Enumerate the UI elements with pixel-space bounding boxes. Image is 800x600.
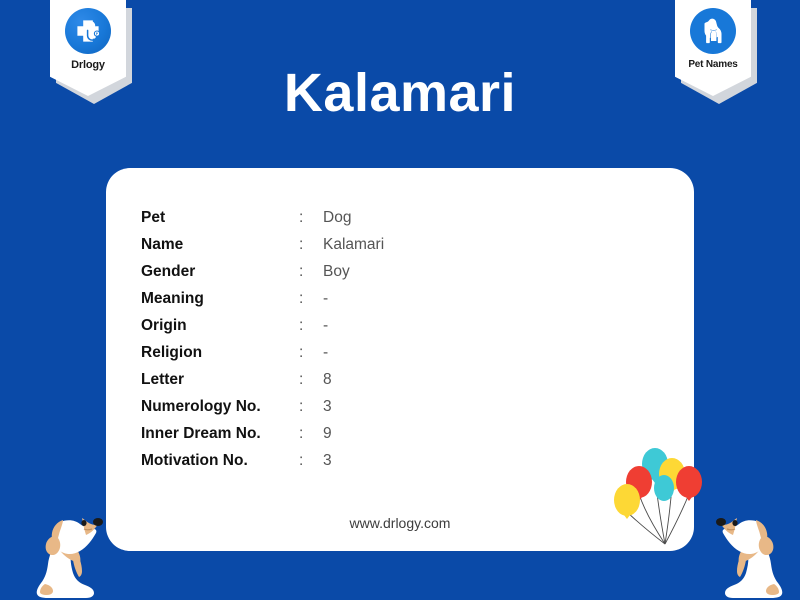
table-row: Meaning : - [141,290,384,317]
row-separator: : [299,290,323,308]
table-row: Inner Dream No. : 9 [141,425,384,452]
dog-cat-silhouette-icon [690,8,736,54]
badge-body: P Drlogy [50,0,126,96]
table-row: Religion : - [141,344,384,371]
row-separator: : [299,344,323,362]
row-value: 3 [323,452,332,470]
brand-badge-drlogy: P Drlogy [50,0,126,96]
row-value: Kalamari [323,236,384,254]
row-label: Meaning [141,290,299,308]
badge-label-drlogy: Drlogy [71,59,105,71]
drlogy-logo-icon: P [65,8,111,54]
row-separator: : [299,452,323,470]
brand-badge-pet-names: Pet Names [675,0,751,96]
sitting-dog-icon-left [22,492,127,600]
badge-label-pet-names: Pet Names [688,59,737,70]
row-label: Origin [141,317,299,335]
row-separator: : [299,398,323,416]
row-value: - [323,290,328,308]
details-table: Pet : Dog Name : Kalamari Gender : Boy M… [141,209,384,479]
row-value: Dog [323,209,351,227]
table-row: Gender : Boy [141,263,384,290]
row-separator: : [299,209,323,227]
row-value: - [323,344,328,362]
row-separator: : [299,425,323,443]
table-row: Numerology No. : 3 [141,398,384,425]
row-separator: : [299,317,323,335]
row-value: 3 [323,398,332,416]
row-value: - [323,317,328,335]
row-label: Motivation No. [141,452,299,470]
row-label: Numerology No. [141,398,299,416]
table-row: Pet : Dog [141,209,384,236]
sitting-dog-icon-right [692,492,797,600]
row-label: Letter [141,371,299,389]
row-value: Boy [323,263,350,281]
row-value: 9 [323,425,332,443]
table-row: Letter : 8 [141,371,384,398]
details-card: Pet : Dog Name : Kalamari Gender : Boy M… [106,168,694,551]
table-row: Name : Kalamari [141,236,384,263]
row-value: 8 [323,371,332,389]
table-row: Motivation No. : 3 [141,452,384,479]
row-label: Pet [141,209,299,227]
poster-canvas: P Drlogy Pet Names Kalamari [0,0,800,600]
badge-body: Pet Names [675,0,751,96]
row-separator: : [299,263,323,281]
website-footer: www.drlogy.com [106,515,694,531]
row-label: Inner Dream No. [141,425,299,443]
table-row: Origin : - [141,317,384,344]
row-label: Religion [141,344,299,362]
row-label: Name [141,236,299,254]
row-separator: : [299,371,323,389]
row-separator: : [299,236,323,254]
row-label: Gender [141,263,299,281]
